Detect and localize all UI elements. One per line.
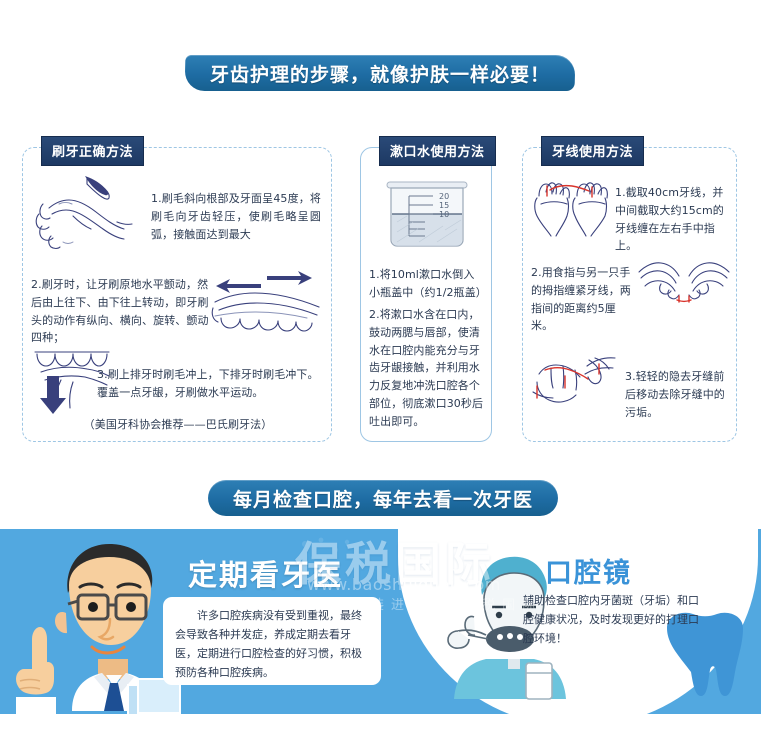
- panel-brushing: 刷牙正确方法 1.刷毛斜向根部及牙面呈45度，将刷毛向牙齿轻压，使刷毛略呈圆弧，…: [22, 147, 332, 442]
- panel-brushing-step-3: 3.刷上排牙时刷毛冲上，下排牙时刷毛冲下。覆盖一点牙龈，牙刷做水平运动。: [97, 366, 325, 402]
- brushing-step2-illustration: [209, 268, 325, 342]
- panel-mouthwash: 漱口水使用方法 20 15 10 1.将10ml漱口水倒入小瓶盖中（约1/2瓶盖…: [360, 147, 492, 442]
- dentist-heading: 定期看牙医: [188, 552, 343, 594]
- panel-mouthwash-title: 漱口水使用方法: [379, 136, 496, 166]
- panel-mouthwash-step-2: 2.将漱口水含在口内，鼓动两腮与唇部，使清水在口腔内能充分与牙齿牙龈接触，并利用…: [369, 306, 485, 431]
- cup-mark-20: 20: [439, 192, 449, 201]
- mirror-body-text: 辅助检查口腔内牙菌斑（牙垢）和口腔健康状况，及时发现更好的打理口腔环境！: [523, 592, 709, 649]
- panel-brushing-step-1: 1.刷毛斜向根部及牙面呈45度，将刷毛向牙齿轻压，使刷毛略呈圆弧，接触面达到最大: [151, 190, 321, 243]
- dentist-body-text: 许多口腔疾病没有受到重视，最终会导致各种并发症，养成定期去看牙医，定期进行口腔检…: [175, 607, 369, 683]
- brushing-step1-illustration: [29, 170, 147, 256]
- floss-step3-illustration: [529, 348, 633, 420]
- dentist-callout: 许多口腔疾病没有受到重视，最终会导致各种并发症，养成定期去看牙医，定期进行口腔检…: [163, 597, 381, 685]
- cup-mark-15: 15: [439, 201, 449, 210]
- panel-floss-step-3: 3.轻轻的隐去牙缝前后移动去除牙缝中的污垢。: [625, 368, 729, 421]
- panel-floss-step-1: 1.截取40cm牙线，并中间截取大约15cm的牙线缠在左右手中指上。: [615, 184, 731, 255]
- banner-top-label: 牙齿护理的步骤，就像护肤一样必要！: [210, 60, 550, 87]
- measuring-cup-illustration: 20 15 10: [375, 176, 479, 258]
- panel-floss-title: 牙线使用方法: [541, 136, 644, 166]
- panel-floss-step-2: 2.用食指与另一只手的拇指缠紧牙线，两指间的距离约5厘米。: [531, 264, 635, 335]
- panel-brushing-title: 刷牙正确方法: [41, 136, 144, 166]
- infographic-page: 牙齿护理的步骤，就像护肤一样必要！ 刷牙正确方法 1.刷毛斜向根部及牙面呈45度…: [0, 0, 761, 740]
- panel-brushing-footnote: （美国牙科协会推荐——巴氏刷牙法）: [43, 416, 313, 434]
- banner-middle-label: 每月检查口腔，每年去看一次牙医: [233, 485, 533, 512]
- banner-top: 牙齿护理的步骤，就像护肤一样必要！: [185, 55, 575, 91]
- panel-floss: 牙线使用方法 1.截取40cm牙线，并中间截取大约15cm的牙线缠在左右手中指上…: [522, 147, 737, 442]
- floss-step2-illustration: [635, 256, 733, 314]
- mirror-heading: 口腔镜: [545, 551, 632, 590]
- panel-brushing-step-2: 2.刷牙时，让牙刷原地水平颤动，然后由上往下、由下往上转动，即牙刷头的动作有纵向…: [31, 276, 213, 347]
- cup-mark-10: 10: [439, 210, 449, 219]
- panel-mouthwash-step-1: 1.将10ml漱口水倒入小瓶盖中（约1/2瓶盖）: [369, 266, 485, 302]
- floss-step1-illustration: [531, 174, 613, 240]
- banner-middle: 每月检查口腔，每年去看一次牙医: [208, 480, 558, 516]
